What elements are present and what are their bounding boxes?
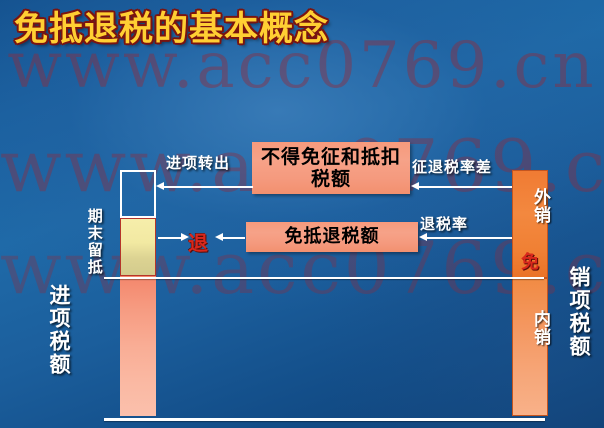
output-tax-label: 销项税额 [568,266,590,358]
slide-canvas: www.acc0769.cn www.acc0769.cn www.acc076… [0,0,604,428]
refund-right-arrow-head [215,233,223,241]
rate-difference-arrow-line [419,186,512,188]
transfer-out-arrow-line [163,186,253,188]
input-tax-bar: 抵 [120,170,156,416]
refund-left-arrow-line [158,237,182,239]
rate-difference-label: 征退税率差 [412,156,492,177]
input-tax-segment-offset: 抵 [120,276,156,416]
transfer-out-label: 进项转出 [166,152,230,173]
mid-baseline [104,277,544,279]
refund-rate-label: 退税率 [420,213,468,234]
export-label: 外销 [512,188,548,224]
input-tax-label: 进项税额 [48,284,70,376]
exempt-label: 免 [512,248,548,274]
bottom-baseline [104,418,545,421]
output-tax-bar: 外销 免 内销 [512,170,548,416]
domestic-label: 内销 [512,310,548,346]
input-tax-segment-carryover [120,218,156,276]
refund-right-arrow-line [222,237,245,239]
page-title: 免抵退税的基本概念 [14,10,329,48]
refund-rate-arrow-line [427,237,512,239]
output-tax-segment-domestic [512,278,548,416]
refund-mark-label: 退 [188,227,208,256]
no-exempt-box: 不得免征和抵扣税额 [252,142,410,194]
carryover-label: 期末留抵 [86,208,102,276]
refund-rate-arrow-head [419,233,427,241]
input-tax-segment-empty [120,170,156,218]
refund-amount-box: 免抵退税额 [246,222,418,252]
transfer-out-arrow-head [156,182,164,190]
rate-difference-arrow-head [411,182,419,190]
